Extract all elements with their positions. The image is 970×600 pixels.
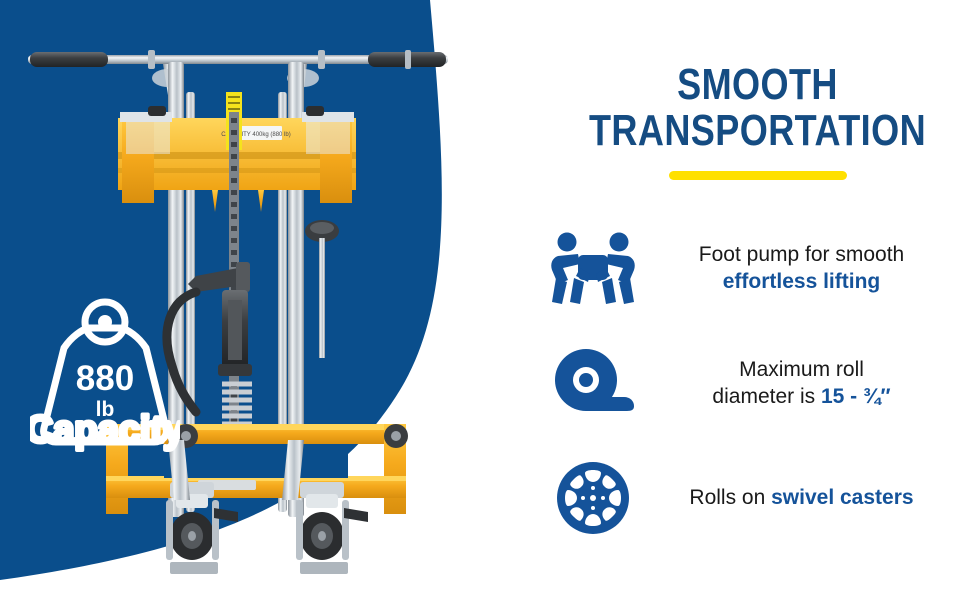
feature-row-roll-diameter: Maximum roll diameter is 15 - ¾″ [545,325,970,440]
swivel-caster-wheel-icon [545,453,641,543]
title-line-1: SMOOTH [583,62,932,108]
feature-3-line-1-value: swivel casters [771,486,913,509]
page-title: SMOOTH TRANSPORTATION [545,62,970,180]
two-people-lifting-box-icon [545,223,641,313]
feature-text-foot-pump: Foot pump for smooth effortless lifting [641,241,970,295]
right-content-panel: SMOOTH TRANSPORTATION [545,0,970,600]
title-line-2: TRANSPORTATION [583,108,932,154]
feature-1-line-2: effortless lifting [641,268,962,295]
feature-3-line-1-prefix: Rolls on [689,486,771,509]
feature-list: Foot pump for smooth effortless lifting [545,210,970,555]
feature-2-line-2-value: 15 - ¾″ [821,385,891,408]
feature-2-line-2-prefix: diameter is [712,385,821,408]
capacity-badge: 880 lb Capacity [30,296,180,456]
feature-1-line-1: Foot pump for smooth [641,241,962,268]
paper-roll-icon [545,338,641,428]
feature-text-roll-diameter: Maximum roll diameter is 15 - ¾″ [641,356,970,410]
title-underline-rule [669,171,847,180]
feature-text-swivel-casters: Rolls on swivel casters [641,484,970,511]
feature-row-swivel-casters: Rolls on swivel casters [545,440,970,555]
capacity-value: 880 [76,359,134,398]
feature-2-line-1: Maximum roll [641,356,962,383]
capacity-label: Capacity [30,409,180,451]
infographic-canvas: CAPACITY 400kg (880 lb) [0,0,970,600]
feature-row-foot-pump: Foot pump for smooth effortless lifting [545,210,970,325]
